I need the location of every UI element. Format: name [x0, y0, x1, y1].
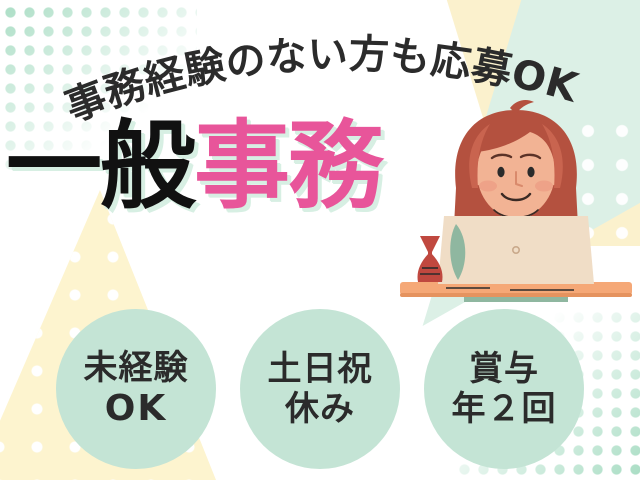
benefit-badge-no-experience: 未経験 OK [56, 309, 216, 469]
benefit-badge-line2: 休み [285, 390, 355, 428]
benefit-badge-line1: 未経験 [84, 349, 189, 387]
desk-edge-shadow [400, 293, 632, 297]
vase-body [418, 252, 443, 282]
benefit-badge-line1: 賞与 [469, 350, 539, 388]
benefit-badge-bonus: 賞与 年２回 [424, 309, 584, 469]
benefit-badge-line2: OK [105, 389, 168, 429]
benefit-badges: 未経験 OK 土日祝 休み 賞与 年２回 [0, 305, 640, 475]
benefit-badge-line1: 土日祝 [268, 350, 373, 388]
job-ad-banner: 事務経験のない方も応募OK 一般 事務 [0, 0, 640, 480]
title-dark-segment: 一般 [6, 118, 194, 214]
eye-right [527, 167, 534, 177]
eye-left [497, 167, 504, 177]
benefit-badge-weekends-off: 土日祝 休み [240, 309, 400, 469]
woman-at-laptop-illustration [398, 96, 634, 308]
main-title: 一般 事務 [6, 118, 382, 214]
title-pink-segment: 事務 [194, 118, 382, 214]
blush-left [479, 181, 497, 192]
benefit-badge-line2: 年２回 [452, 390, 557, 428]
blush-right [535, 181, 553, 192]
